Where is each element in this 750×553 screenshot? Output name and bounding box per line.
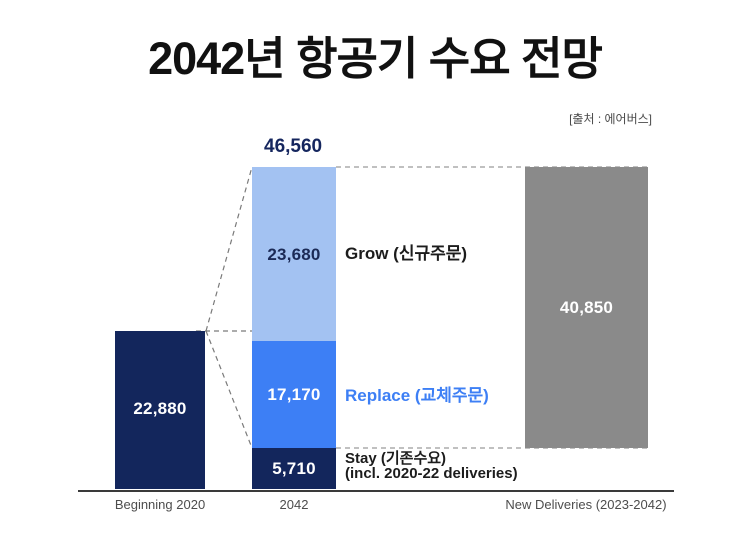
chart-source-note: [출처 : 에어버스]: [569, 110, 652, 127]
bar-value-stay: 5,710: [252, 459, 336, 479]
x-tick-2042: 2042: [244, 497, 344, 512]
x-tick-new-deliveries: New Deliveries (2023-2042): [455, 497, 717, 512]
bar-segment-replace[interactable]: 17,170: [252, 341, 336, 448]
connector-top-diagonal: [206, 167, 252, 331]
bar-segment-grow[interactable]: 23,680: [252, 167, 336, 341]
x-axis-line: [78, 490, 674, 492]
legend-label-stay-sub: (incl. 2020-22 deliveries): [345, 465, 518, 482]
bar-beginning-2020[interactable]: 22,880: [115, 331, 205, 489]
stack-total-label: 46,560: [264, 136, 322, 158]
x-tick-beginning-2020: Beginning 2020: [95, 497, 225, 512]
bar-value-grow: 23,680: [252, 245, 336, 265]
legend-label-grow: Grow (신규주문): [345, 239, 467, 264]
connector-bottom-diagonal: [206, 331, 252, 448]
legend-label-replace: Replace (교체주문): [345, 381, 489, 406]
bar-segment-stay[interactable]: 5,710: [252, 448, 336, 489]
page-title: 2042년 항공기 수요 전망: [0, 34, 750, 84]
bar-value-beginning-2020: 22,880: [115, 399, 205, 419]
bar-value-replace: 17,170: [252, 385, 336, 405]
chart-canvas: 2042년 항공기 수요 전망 [출처 : 에어버스] 22,880 46,56…: [0, 0, 750, 553]
bar-new-deliveries[interactable]: 40,850: [525, 167, 648, 448]
bar-value-new-deliveries: 40,850: [525, 298, 648, 318]
